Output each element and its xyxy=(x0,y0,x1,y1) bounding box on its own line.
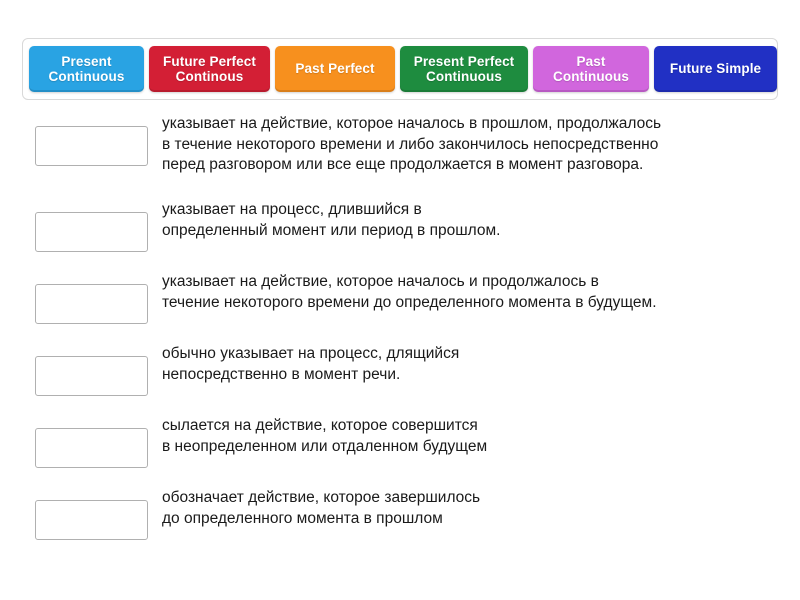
word-tile-5[interactable]: Past Continuous xyxy=(533,46,649,92)
word-tile-3[interactable]: Past Perfect xyxy=(275,46,395,92)
definition-text-4: обычно указывает на процесс, длящийся не… xyxy=(162,342,459,385)
answer-dropzone-6[interactable] xyxy=(35,500,148,540)
word-tile-2[interactable]: Future Perfect Continous xyxy=(149,46,270,92)
definition-text-6: обозначает действие, которое завершилось… xyxy=(162,486,480,529)
answer-dropzone-5[interactable] xyxy=(35,428,148,468)
definition-row: указывает на действие, которое началось … xyxy=(0,270,800,342)
definition-text-1: указывает на действие, которое началось … xyxy=(162,112,661,176)
definition-row: указывает на действие, которое началось … xyxy=(0,112,800,198)
definition-text-2: указывает на процесс, длившийся в опреде… xyxy=(162,198,500,241)
matchup-activity: Present ContinuousFuture Perfect Contino… xyxy=(0,0,800,600)
word-tile-tray: Present ContinuousFuture Perfect Contino… xyxy=(22,38,778,100)
definition-row: обозначает действие, которое завершилось… xyxy=(0,486,800,558)
word-tile-4[interactable]: Present Perfect Continuous xyxy=(400,46,528,92)
answer-dropzone-2[interactable] xyxy=(35,212,148,252)
definition-rows-list: указывает на действие, которое началось … xyxy=(0,112,800,558)
definition-row: сылается на действие, которое совершится… xyxy=(0,414,800,486)
definition-text-3: указывает на действие, которое началось … xyxy=(162,270,657,313)
definition-row: указывает на процесс, длившийся в опреде… xyxy=(0,198,800,270)
definition-row: обычно указывает на процесс, длящийся не… xyxy=(0,342,800,414)
word-tile-1[interactable]: Present Continuous xyxy=(29,46,144,92)
word-tile-6[interactable]: Future Simple xyxy=(654,46,777,92)
answer-dropzone-3[interactable] xyxy=(35,284,148,324)
answer-dropzone-4[interactable] xyxy=(35,356,148,396)
answer-dropzone-1[interactable] xyxy=(35,126,148,166)
definition-text-5: сылается на действие, которое совершится… xyxy=(162,414,487,457)
